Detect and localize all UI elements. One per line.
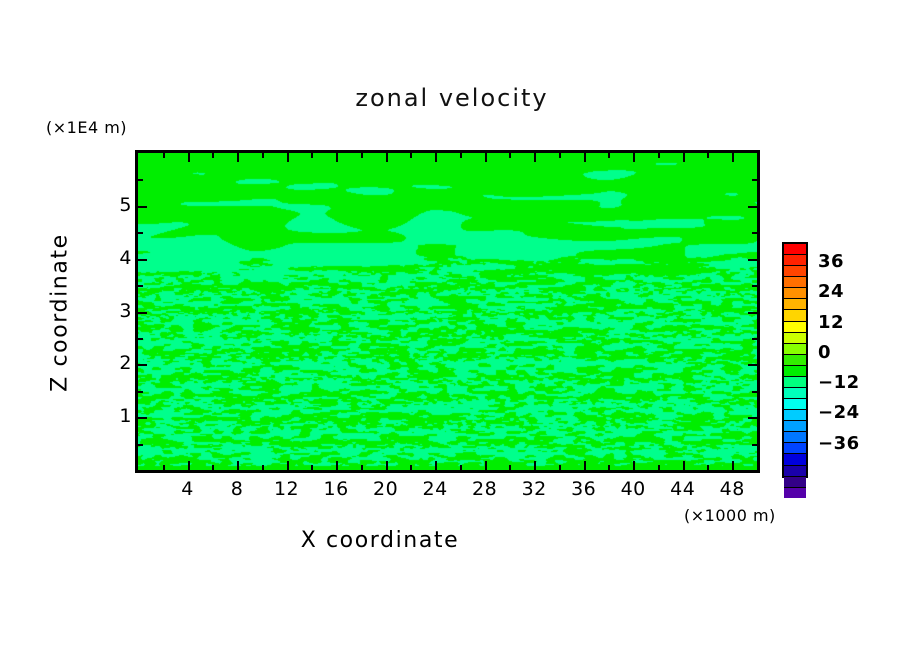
colorbar-tick-label: 0 — [818, 342, 831, 363]
colorbar-tick-label: −36 — [818, 433, 860, 454]
y-tick-right — [748, 417, 757, 419]
y-tick-label: 2 — [92, 352, 132, 374]
x-tick-bottom — [509, 465, 511, 470]
colorbar-band-stack — [782, 242, 808, 478]
x-tick-top — [336, 153, 338, 162]
x-tick-top — [633, 153, 635, 162]
colorbar-band — [784, 432, 806, 443]
y-tick-left — [138, 444, 143, 446]
y-tick-left — [138, 312, 147, 314]
y-tick-right — [752, 444, 757, 446]
colorbar-band — [784, 244, 806, 255]
x-tick-top — [559, 153, 561, 158]
x-tick-bottom — [212, 465, 214, 470]
page-title: zonal velocity — [0, 84, 904, 112]
x-tick-bottom — [732, 461, 734, 470]
colorbar-band — [784, 421, 806, 432]
x-tick-top — [732, 153, 734, 162]
x-tick-top — [237, 153, 239, 162]
colorbar-tick-label: −12 — [818, 372, 860, 393]
y-tick-right — [752, 391, 757, 393]
x-tick-bottom — [410, 465, 412, 470]
x-tick-top — [163, 153, 165, 158]
y-tick-right — [752, 232, 757, 234]
x-axis-title: X coordinate — [0, 528, 760, 553]
colorbar-tick-label: 36 — [818, 251, 844, 272]
colorbar-band — [784, 322, 806, 333]
x-tick-bottom — [683, 461, 685, 470]
colorbar-band — [784, 410, 806, 421]
x-tick-top — [188, 153, 190, 162]
x-tick-top — [311, 153, 313, 158]
x-tick-bottom — [361, 465, 363, 470]
y-tick-label: 4 — [92, 247, 132, 269]
y-tick-right — [752, 179, 757, 181]
y-tick-right — [752, 285, 757, 287]
x-tick-top — [608, 153, 610, 158]
x-tick-top — [707, 153, 709, 158]
x-tick-top — [386, 153, 388, 162]
x-tick-bottom — [460, 465, 462, 470]
x-tick-top — [460, 153, 462, 158]
x-tick-bottom — [188, 461, 190, 470]
x-tick-top — [534, 153, 536, 162]
x-tick-bottom — [435, 461, 437, 470]
x-tick-top — [287, 153, 289, 162]
x-tick-top — [485, 153, 487, 162]
x-tick-bottom — [559, 465, 561, 470]
x-tick-bottom — [336, 461, 338, 470]
colorbar-band — [784, 277, 806, 288]
x-tick-bottom — [287, 461, 289, 470]
x-tick-top — [509, 153, 511, 158]
y-tick-right — [748, 206, 757, 208]
colorbar-band — [784, 488, 806, 498]
colorbar-band — [784, 255, 806, 266]
y-axis-title: Z coordinate — [48, 213, 73, 413]
y-tick-right — [748, 364, 757, 366]
colorbar-band — [784, 333, 806, 344]
colorbar-band — [784, 310, 806, 321]
x-tick-top — [361, 153, 363, 158]
y-tick-right — [752, 338, 757, 340]
x-tick-bottom — [163, 465, 165, 470]
colorbar-band — [784, 477, 806, 488]
x-tick-bottom — [633, 461, 635, 470]
y-tick-left — [138, 338, 143, 340]
x-tick-bottom — [485, 461, 487, 470]
x-tick-top — [683, 153, 685, 162]
contour-plot-area: t=658800 s — [135, 150, 760, 473]
colorbar-band — [784, 377, 806, 388]
colorbar-band — [784, 288, 806, 299]
y-tick-right — [748, 312, 757, 314]
x-tick-bottom — [386, 461, 388, 470]
colorbar-band — [784, 454, 806, 465]
colorbar-band — [784, 366, 806, 377]
y-tick-label: 3 — [92, 300, 132, 322]
colorbar-band — [784, 266, 806, 277]
colorbar-band — [784, 388, 806, 399]
velocity-field-raster — [138, 153, 757, 470]
x-axis-units-label: (×1000 m) — [684, 506, 776, 525]
x-tick-top — [435, 153, 437, 162]
colorbar-tick-label: −24 — [818, 402, 860, 423]
y-tick-right — [748, 259, 757, 261]
x-tick-top — [410, 153, 412, 158]
colorbar-band — [784, 399, 806, 410]
colorbar: 3624120−12−24−36 — [772, 196, 892, 526]
x-tick-bottom — [534, 461, 536, 470]
x-tick-bottom — [608, 465, 610, 470]
colorbar-band — [784, 443, 806, 454]
x-tick-top — [212, 153, 214, 158]
colorbar-band — [784, 344, 806, 355]
y-tick-label: 5 — [92, 194, 132, 216]
y-tick-left — [138, 391, 143, 393]
colorbar-tick-label: 24 — [818, 281, 844, 302]
x-tick-bottom — [311, 465, 313, 470]
y-tick-left — [138, 285, 143, 287]
x-tick-label: 48 — [702, 478, 762, 500]
x-tick-bottom — [237, 461, 239, 470]
y-axis-units-label: (×1E4 m) — [46, 118, 127, 137]
x-tick-top — [658, 153, 660, 158]
y-tick-left — [138, 364, 147, 366]
y-tick-left — [138, 259, 147, 261]
y-tick-left — [138, 232, 143, 234]
x-tick-top — [584, 153, 586, 162]
y-tick-label: 1 — [92, 405, 132, 427]
y-tick-left — [138, 179, 143, 181]
colorbar-band — [784, 466, 806, 477]
x-tick-bottom — [658, 465, 660, 470]
y-tick-left — [138, 206, 147, 208]
x-tick-bottom — [707, 465, 709, 470]
x-tick-top — [262, 153, 264, 158]
x-tick-bottom — [262, 465, 264, 470]
x-tick-bottom — [584, 461, 586, 470]
colorbar-band — [784, 299, 806, 310]
colorbar-band — [784, 355, 806, 366]
y-tick-left — [138, 417, 147, 419]
colorbar-tick-label: 12 — [818, 312, 844, 333]
